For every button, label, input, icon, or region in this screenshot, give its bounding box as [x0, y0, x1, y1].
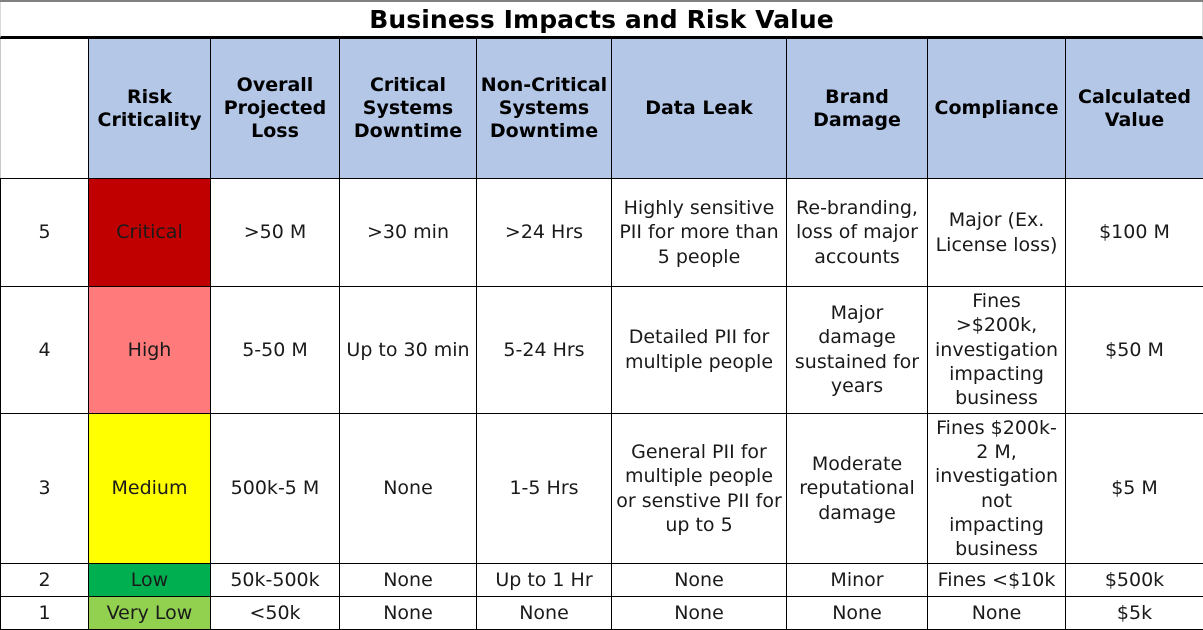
cell-data-leak: General PII for multiple people or senst… [612, 413, 787, 564]
cell-risk-criticality: Medium [89, 413, 211, 564]
table-row: 1 Very Low <50k None None None None None… [1, 597, 1203, 630]
cell-data-leak: None [612, 597, 787, 630]
cell-overall-projected-loss: <50k [211, 597, 340, 630]
cell-compliance: None [928, 597, 1066, 630]
cell-compliance: Major (Ex. License loss) [928, 179, 1066, 287]
cell-critical-systems-downtime: None [340, 413, 477, 564]
cell-non-critical-systems-downtime: Up to 1 Hr [477, 564, 612, 597]
cell-critical-systems-downtime: Up to 30 min [340, 287, 477, 414]
table-row: 5 Critical >50 M >30 min >24 Hrs Highly … [1, 179, 1203, 287]
risk-matrix-table: Risk Criticality Overall Projected Loss … [0, 38, 1203, 630]
cell-risk-criticality: High [89, 287, 211, 414]
column-header-calculated-value: Calculated Value [1066, 39, 1203, 179]
cell-non-critical-systems-downtime: 1-5 Hrs [477, 413, 612, 564]
table-row: 2 Low 50k-500k None Up to 1 Hr None Mino… [1, 564, 1203, 597]
title-bar: Business Impacts and Risk Value [0, 2, 1203, 38]
spreadsheet-sheet: Business Impacts and Risk Value Risk Cri… [0, 0, 1203, 612]
column-header-brand-damage: Brand Damage [787, 39, 928, 179]
cell-data-leak: None [612, 564, 787, 597]
cell-calculated-value: $50 M [1066, 287, 1203, 414]
cell-critical-systems-downtime: None [340, 564, 477, 597]
column-header-critical-systems-downtime: Critical Systems Downtime [340, 39, 477, 179]
column-header-risk-criticality: Risk Criticality [89, 39, 211, 179]
cell-overall-projected-loss: 50k-500k [211, 564, 340, 597]
column-header-overall-projected-loss: Overall Projected Loss [211, 39, 340, 179]
cell-overall-projected-loss: >50 M [211, 179, 340, 287]
cell-brand-damage: Minor [787, 564, 928, 597]
cell-critical-systems-downtime: None [340, 597, 477, 630]
table-row: 3 Medium 500k-5 M None 1-5 Hrs General P… [1, 413, 1203, 564]
cell-index: 5 [1, 179, 89, 287]
column-header-data-leak: Data Leak [612, 39, 787, 179]
cell-index: 1 [1, 597, 89, 630]
cell-calculated-value: $5 M [1066, 413, 1203, 564]
cell-calculated-value: $5k [1066, 597, 1203, 630]
cell-brand-damage: Major damage sustained for years [787, 287, 928, 414]
cell-non-critical-systems-downtime: >24 Hrs [477, 179, 612, 287]
column-header-non-critical-systems-downtime: Non-Critical Systems Downtime [477, 39, 612, 179]
cell-brand-damage: Re-branding, loss of major accounts [787, 179, 928, 287]
cell-overall-projected-loss: 5-50 M [211, 287, 340, 414]
cell-compliance: Fines <$10k [928, 564, 1066, 597]
table-header-row: Risk Criticality Overall Projected Loss … [1, 39, 1203, 179]
cell-compliance: Fines >$200k, investigation impacting bu… [928, 287, 1066, 414]
cell-index: 4 [1, 287, 89, 414]
cell-critical-systems-downtime: >30 min [340, 179, 477, 287]
cell-overall-projected-loss: 500k-5 M [211, 413, 340, 564]
cell-index: 2 [1, 564, 89, 597]
table-row: 4 High 5-50 M Up to 30 min 5-24 Hrs Deta… [1, 287, 1203, 414]
cell-brand-damage: None [787, 597, 928, 630]
cell-risk-criticality: Low [89, 564, 211, 597]
cell-calculated-value: $500k [1066, 564, 1203, 597]
cell-brand-damage: Moderate reputational damage [787, 413, 928, 564]
page-title: Business Impacts and Risk Value [369, 5, 834, 34]
column-header-compliance: Compliance [928, 39, 1066, 179]
cell-index: 3 [1, 413, 89, 564]
cell-risk-criticality: Very Low [89, 597, 211, 630]
cell-compliance: Fines $200k-2 M, investigation not impac… [928, 413, 1066, 564]
cell-calculated-value: $100 M [1066, 179, 1203, 287]
cell-data-leak: Detailed PII for multiple people [612, 287, 787, 414]
cell-data-leak: Highly sensitive PII for more than 5 peo… [612, 179, 787, 287]
cell-non-critical-systems-downtime: None [477, 597, 612, 630]
cell-non-critical-systems-downtime: 5-24 Hrs [477, 287, 612, 414]
column-header-index [1, 39, 89, 179]
cell-risk-criticality: Critical [89, 179, 211, 287]
